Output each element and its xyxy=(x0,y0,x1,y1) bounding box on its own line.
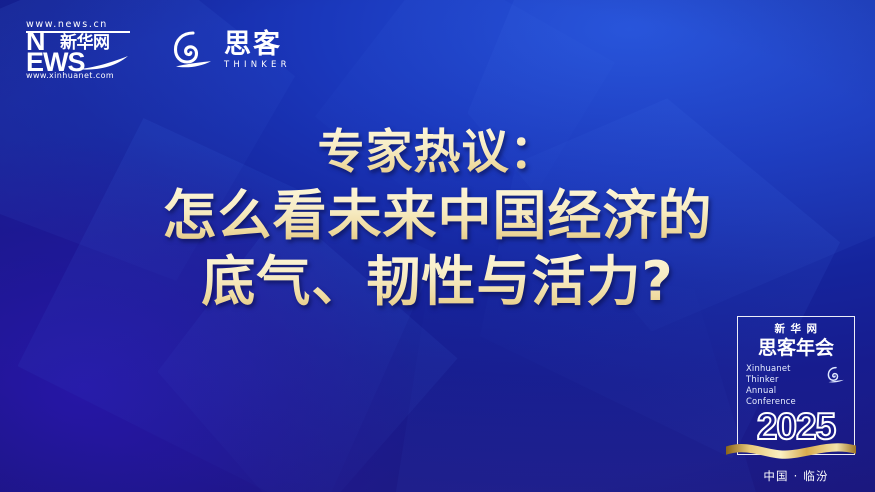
thinker-english-name: THINKER xyxy=(224,61,291,70)
badge-english-line-1: Xinhuanet xyxy=(746,363,826,374)
page-title: 专家热议： 怎么看未来中国经济的 底气、韧性与活力? xyxy=(0,126,875,314)
thinker-chinese-name: 思客 xyxy=(224,31,291,59)
badge-frame: 新华网 思客年会 Xinhuanet Thinker Annual Confer… xyxy=(737,316,855,455)
header-logos: www.news.cn N EWS 新华网 www.xinhuanet.com … xyxy=(26,18,310,82)
badge-english-line-2: Thinker xyxy=(746,374,826,385)
xinhua-swoosh-icon xyxy=(74,55,130,71)
thinker-text: 思客 THINKER xyxy=(224,31,291,70)
poster-root: www.news.cn N EWS 新华网 www.xinhuanet.com … xyxy=(0,0,875,492)
title-line-1: 专家热议： xyxy=(80,126,795,181)
conference-badge[interactable]: 新华网 思客年会 Xinhuanet Thinker Annual Confer… xyxy=(737,316,855,484)
badge-english-block: Xinhuanet Thinker Annual Conference xyxy=(746,363,826,407)
xinhua-net-logo[interactable]: www.news.cn N EWS 新华网 www.xinhuanet.com xyxy=(26,18,144,82)
badge-city: 中国 · 临汾 xyxy=(737,468,855,484)
badge-english-line-3: Annual Conference xyxy=(746,385,826,407)
badge-conference-name: 思客年会 xyxy=(744,339,848,358)
badge-thinker-swirl-icon xyxy=(826,365,846,385)
badge-english-row: Xinhuanet Thinker Annual Conference xyxy=(744,363,848,407)
xinhua-wordmark: N EWS 新华网 xyxy=(26,35,144,69)
badge-gold-ribbon xyxy=(726,441,856,463)
title-line-3: 底气、韧性与活力? xyxy=(80,251,795,314)
badge-xinhua-label: 新华网 xyxy=(744,324,848,335)
xinhua-chinese-name: 新华网 xyxy=(60,35,110,52)
title-line-2: 怎么看未来中国经济的 xyxy=(80,185,795,248)
thinker-logo[interactable]: 思客 THINKER xyxy=(170,21,310,79)
thinker-swirl-icon xyxy=(170,27,216,73)
badge-year: 2025 xyxy=(744,408,848,445)
